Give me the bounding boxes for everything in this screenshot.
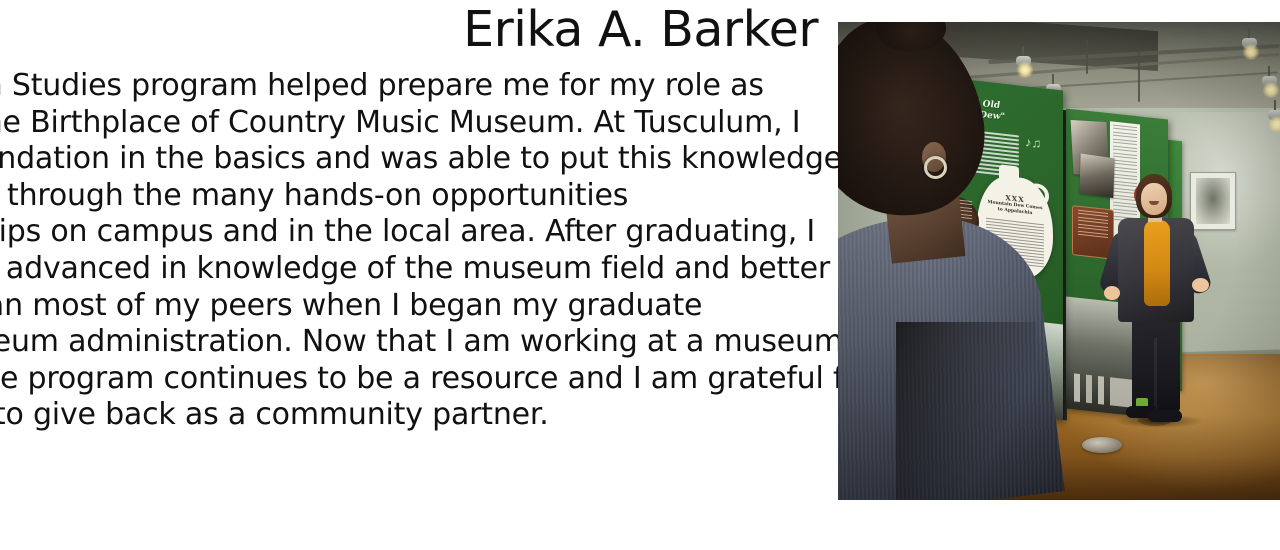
visitor-figure [838, 22, 1016, 500]
floor-access-plate [1082, 437, 1122, 453]
quote-line: and internships on campus and in the loc… [0, 214, 822, 251]
quote-line: The Museum Studies program helped prepar… [0, 68, 822, 105]
testimonial-text-column: Erika A. Barker The Museum Studies progr… [0, 0, 838, 550]
visitor-shading [896, 322, 1036, 500]
museum-gallery-photo: "The Good Old Mountain Dew" ♪♫ XXX Mount… [838, 22, 1280, 500]
quote-line: Tusculum, the program continues to be a … [0, 361, 822, 398]
hoop-earring-icon [924, 156, 947, 179]
testimonial-slide: Erika A. Barker The Museum Studies progr… [0, 0, 1280, 550]
ceiling-conduit [1086, 40, 1088, 74]
presenter-figure [1096, 174, 1216, 424]
presenter-hand [1104, 286, 1120, 300]
quote-line: prepared than most of my peers when I be… [0, 288, 822, 325]
quote-line: felt far more advanced in knowledge of t… [0, 251, 822, 288]
presenter-hand [1192, 278, 1209, 292]
presenter-face [1141, 183, 1167, 215]
ceiling-conduit [1138, 50, 1140, 102]
page-title: Erika A. Barker [463, 2, 818, 58]
quote-line: opportunity to give back as a community … [0, 397, 822, 434]
testimonial-quote: The Museum Studies program helped prepar… [0, 68, 822, 434]
quote-line: work in museum administration. Now that … [0, 324, 822, 361]
music-note-icon: ♪♫ [1025, 134, 1041, 151]
visitor-hair [838, 22, 995, 227]
quote-line: Curator at the Birthplace of Country Mus… [0, 105, 822, 142]
quote-line: gained a foundation in the basics and wa… [0, 141, 822, 178]
quote-line: into practice through the many hands-on … [0, 178, 822, 215]
presenter-top [1144, 220, 1170, 306]
presenter-shoe [1148, 410, 1182, 422]
